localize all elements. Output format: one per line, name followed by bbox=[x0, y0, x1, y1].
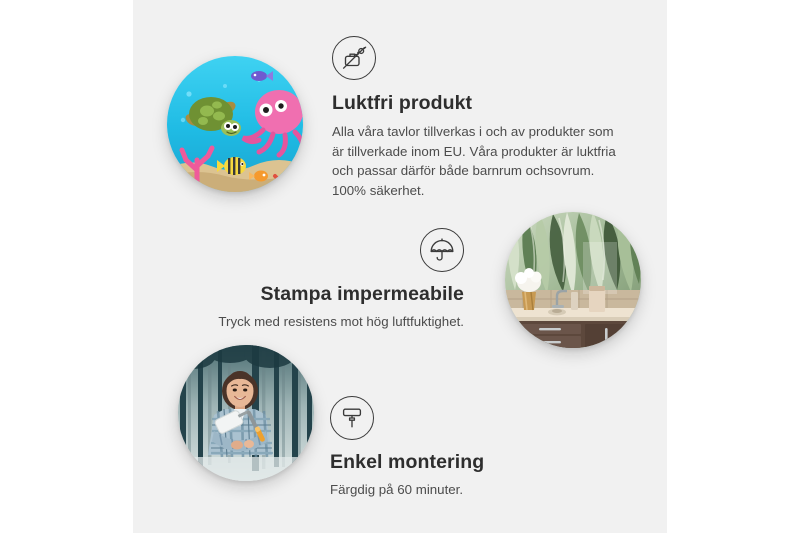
feature-description: Alla våra tavlor tillverkas i och av pro… bbox=[332, 122, 628, 200]
feature-title: Luktfri produkt bbox=[332, 92, 628, 115]
feature-description: Tryck med resistens mot hög luftfuktighe… bbox=[196, 312, 464, 332]
no-odour-spray-bottle-icon bbox=[332, 36, 376, 80]
feature-title: Stampa impermeabile bbox=[196, 283, 464, 306]
paint-roller-icon bbox=[330, 396, 374, 440]
feature-block-assembly: Enkel montering Färgdig på 60 minuter. bbox=[330, 396, 610, 500]
promo-banner: Luktfri produkt Alla våra tavlor tillver… bbox=[0, 0, 800, 533]
feature-block-waterproof: Stampa impermeabile Tryck med resistens … bbox=[196, 228, 464, 332]
feature-description: Färgdig på 60 minuter. bbox=[330, 480, 610, 500]
feature-block-odourless: Luktfri produkt Alla våra tavlor tillver… bbox=[332, 36, 628, 200]
photo-woman-paint-roller-forest bbox=[178, 345, 314, 481]
photo-underwater-kids-mural bbox=[167, 56, 303, 192]
umbrella-icon bbox=[420, 228, 464, 272]
feature-title: Enkel montering bbox=[330, 451, 610, 474]
photo-bathroom-botanical-wallpaper bbox=[505, 212, 641, 348]
